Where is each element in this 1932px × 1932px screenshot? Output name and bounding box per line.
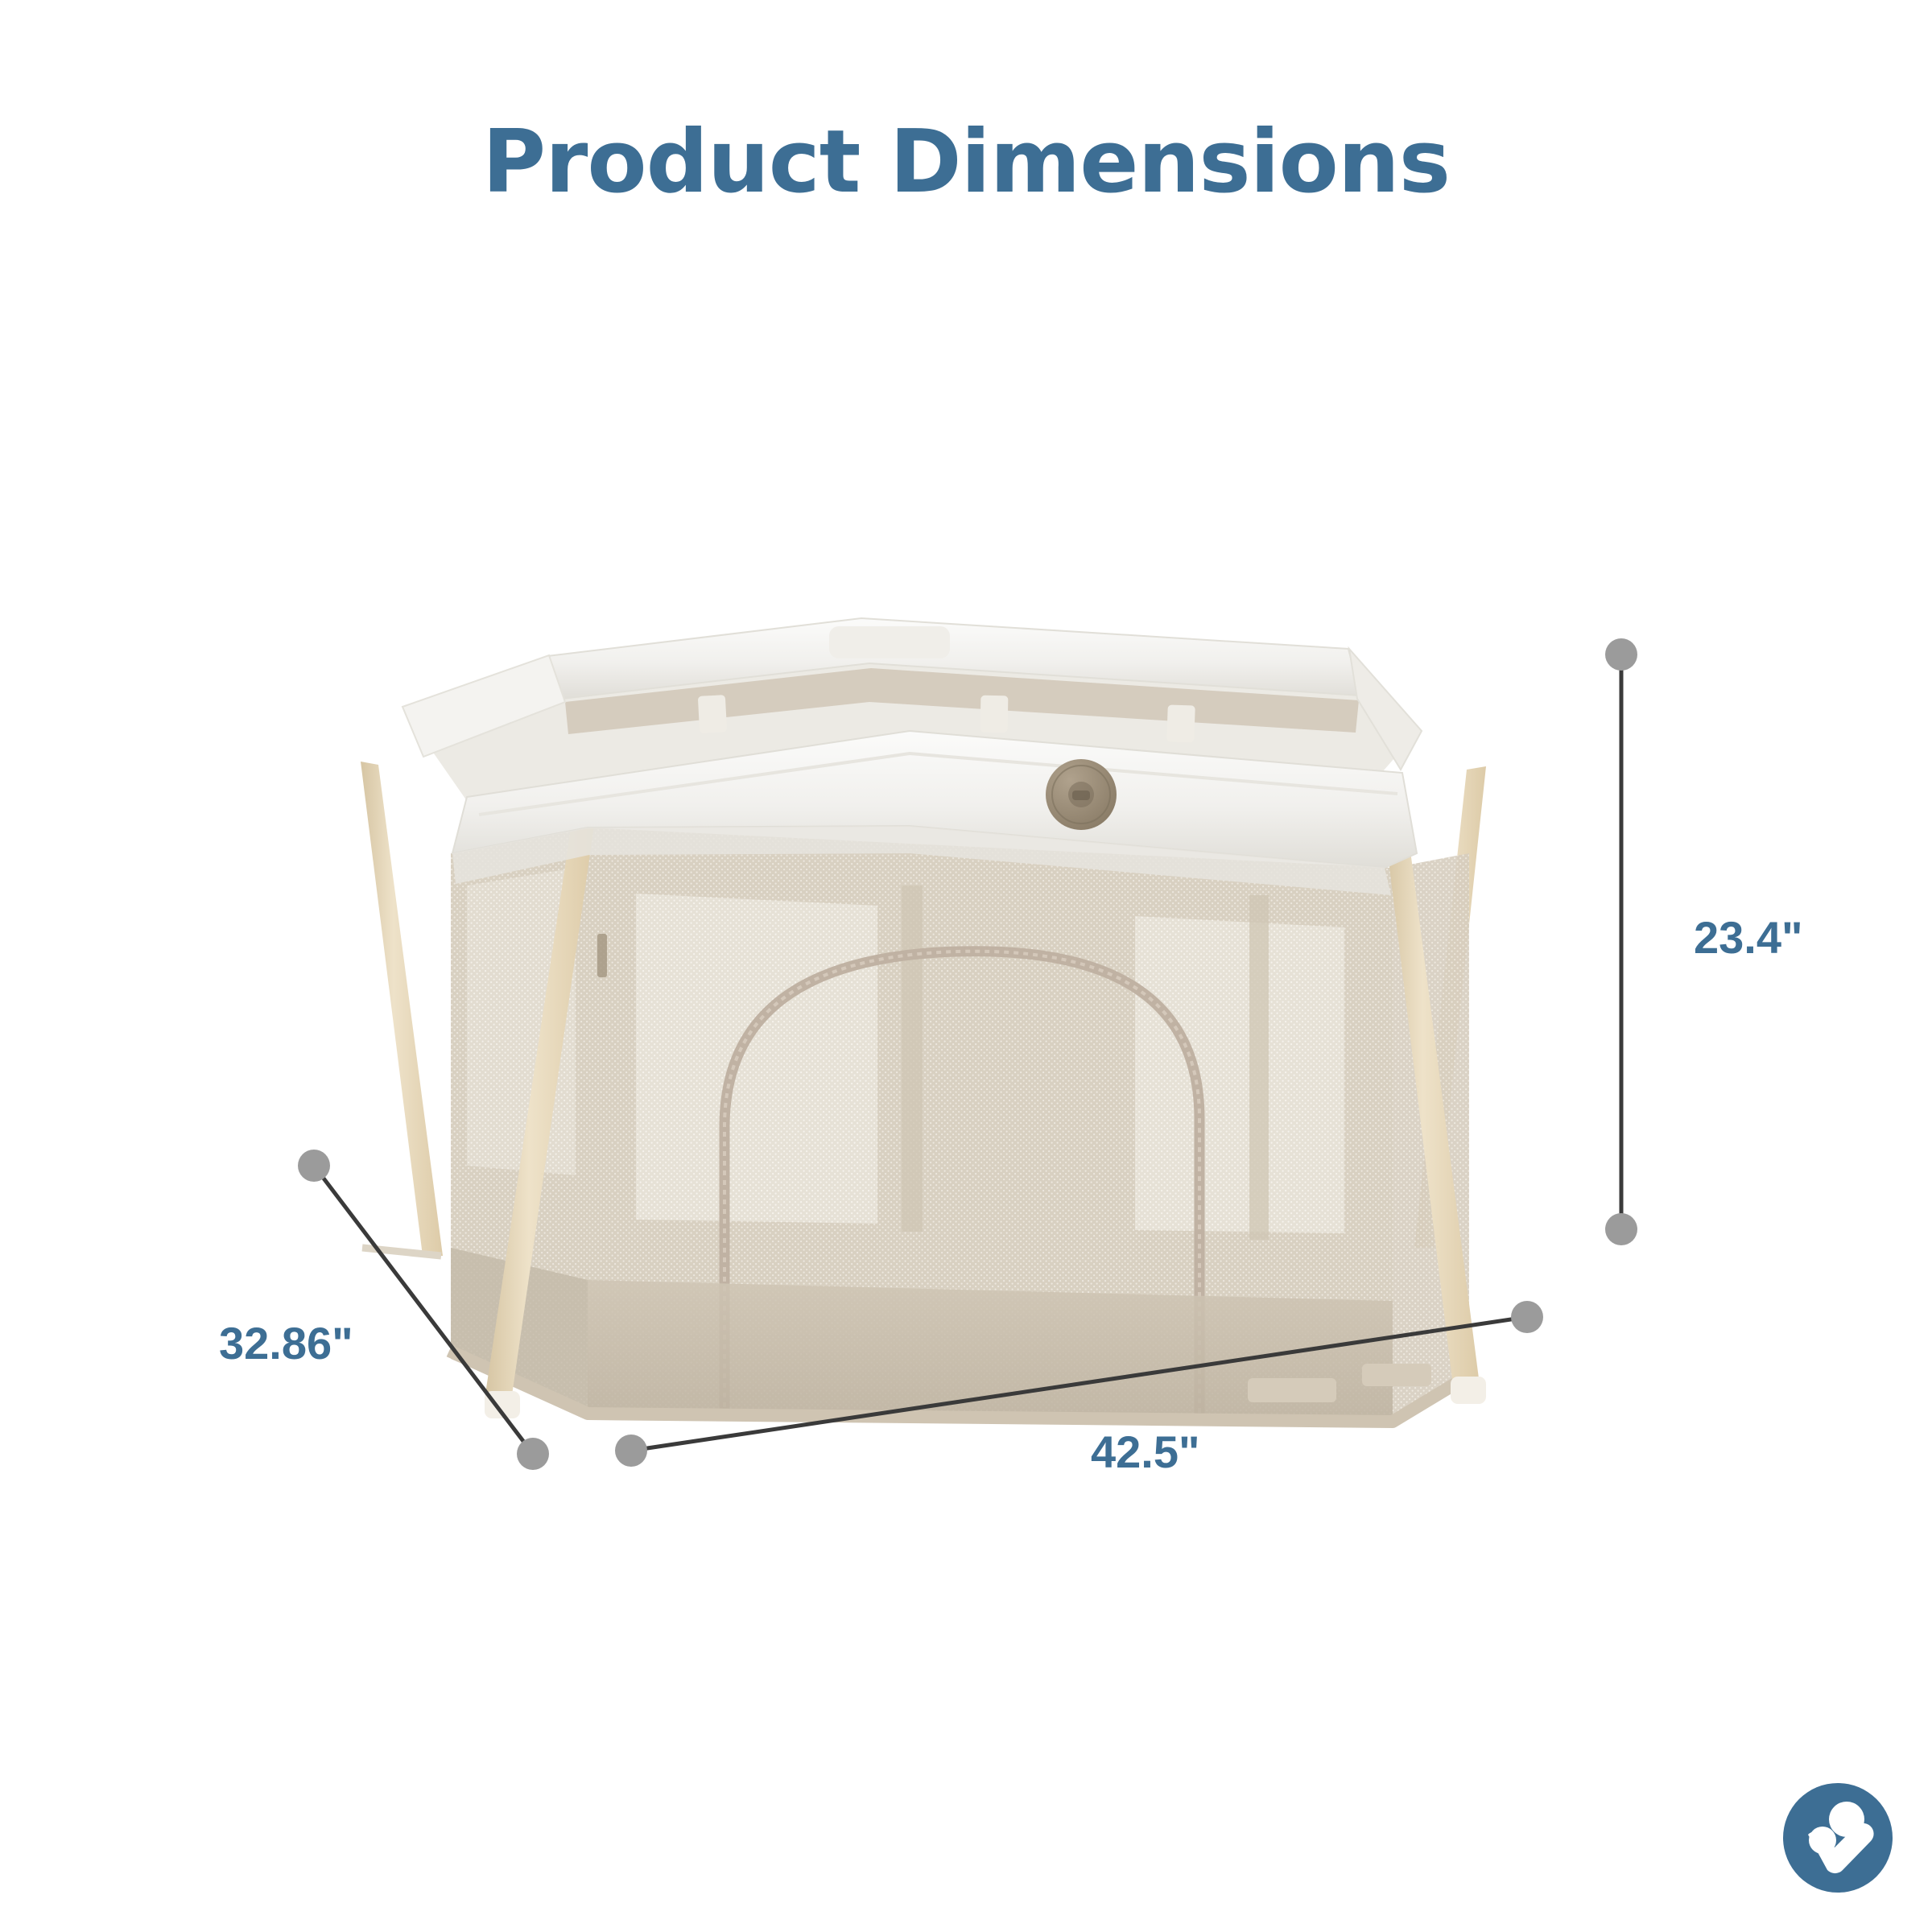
product-illustration: [346, 612, 1586, 1433]
dimension-label-width: 42.5": [1091, 1426, 1200, 1478]
crib-foot-cap-left: [485, 1391, 520, 1418]
dimension-dot: [1605, 1213, 1637, 1245]
dimension-line-height: [1605, 638, 1637, 1245]
product-side-tag: [597, 934, 607, 977]
crib-leg-back-left: [361, 762, 443, 1256]
infographic-canvas: Product Dimensions: [0, 0, 1932, 1932]
dimension-label-depth: 32.86": [219, 1317, 353, 1369]
dimension-label-height: 23.4": [1694, 911, 1803, 964]
product-brand-badge: [1046, 759, 1117, 830]
crib-foot-cap-right: [1451, 1377, 1486, 1404]
dimension-dot: [517, 1438, 549, 1470]
page-title: Product Dimensions: [0, 119, 1932, 206]
brand-logo-circle: [1783, 1783, 1893, 1893]
dimension-dot: [1605, 638, 1637, 671]
dimension-dot: [615, 1435, 647, 1467]
brand-logo: [1781, 1781, 1894, 1894]
crib-handle-tab: [829, 626, 950, 658]
dimension-dot: [298, 1150, 330, 1182]
